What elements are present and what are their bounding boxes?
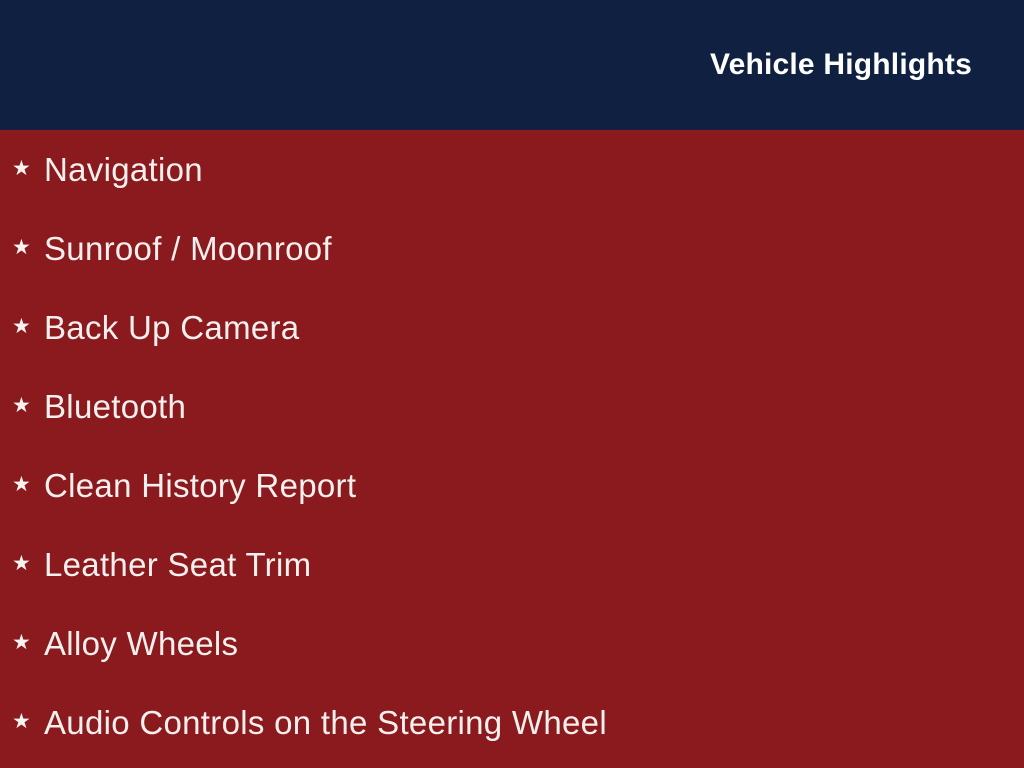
highlights-content: ★ Navigation ★ Sunroof / Moonroof ★ Back… [0, 130, 1024, 768]
list-item-label: Audio Controls on the Steering Wheel [44, 706, 607, 739]
star-bullet-icon: ★ [12, 237, 44, 258]
vehicle-highlights-slide: Vehicle Highlights ★ Navigation ★ Sunroo… [0, 0, 1024, 768]
star-bullet-icon: ★ [12, 316, 44, 337]
list-item-label: Sunroof / Moonroof [44, 232, 332, 265]
list-item: ★ Back Up Camera [0, 288, 1024, 367]
star-bullet-icon: ★ [12, 553, 44, 574]
star-bullet-icon: ★ [12, 474, 44, 495]
vehicle-highlights-list: ★ Navigation ★ Sunroof / Moonroof ★ Back… [0, 130, 1024, 762]
list-item-label: Back Up Camera [44, 311, 299, 344]
star-bullet-icon: ★ [12, 395, 44, 416]
list-item: ★ Bluetooth [0, 367, 1024, 446]
list-item: ★ Sunroof / Moonroof [0, 209, 1024, 288]
list-item: ★ Clean History Report [0, 446, 1024, 525]
list-item: ★ Leather Seat Trim [0, 525, 1024, 604]
list-item: ★ Navigation [0, 130, 1024, 209]
star-bullet-icon: ★ [12, 158, 44, 179]
list-item: ★ Alloy Wheels [0, 604, 1024, 683]
list-item-label: Navigation [44, 153, 203, 186]
list-item: ★ Audio Controls on the Steering Wheel [0, 683, 1024, 762]
list-item-label: Clean History Report [44, 469, 356, 502]
list-item-label: Leather Seat Trim [44, 548, 311, 581]
star-bullet-icon: ★ [12, 632, 44, 653]
list-item-label: Alloy Wheels [44, 627, 238, 660]
star-bullet-icon: ★ [12, 711, 44, 732]
slide-header: Vehicle Highlights [0, 0, 1024, 130]
list-item-label: Bluetooth [44, 390, 186, 423]
page-title: Vehicle Highlights [710, 50, 972, 80]
